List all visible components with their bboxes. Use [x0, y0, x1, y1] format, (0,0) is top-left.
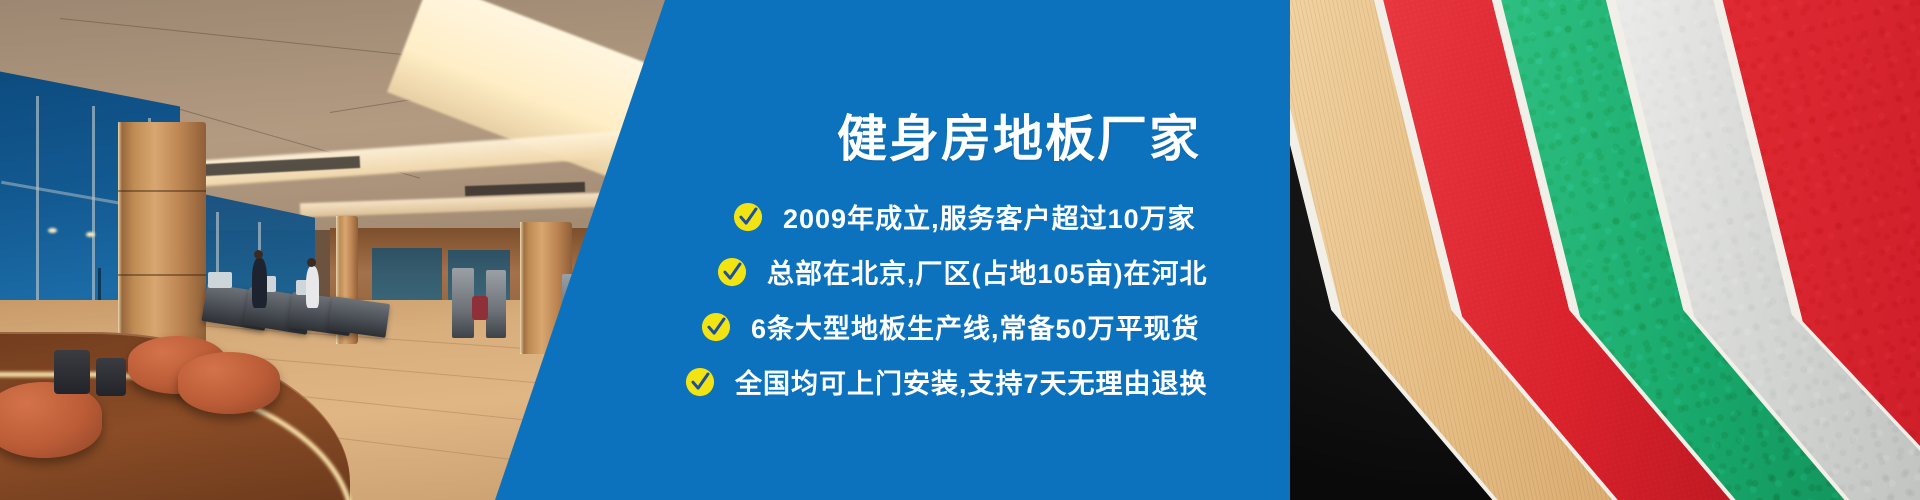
list-item: 全国均可上门安装,支持7天无理由退换 — [685, 362, 1385, 401]
list-item-label: 总部在北京,厂区(占地105亩)在河北 — [767, 252, 1208, 291]
side-stool — [96, 358, 126, 396]
exterior-light — [86, 232, 95, 237]
list-item: 6条大型地板生产线,常备50万平现货 — [701, 307, 1385, 346]
strength-machine — [486, 270, 506, 338]
column-seam — [118, 190, 206, 192]
page-title: 健身房地板厂家 — [675, 99, 1385, 171]
list-item: 2009年成立,服务客户超过10万家 — [733, 197, 1385, 236]
flooring-samples-photo — [1290, 0, 1920, 500]
list-item-label: 全国均可上门安装,支持7天无理由退换 — [735, 362, 1208, 401]
list-item-label: 2009年成立,服务客户超过10万家 — [783, 197, 1196, 236]
person-head — [307, 258, 316, 267]
banner-content: 健身房地板厂家 2009年成立,服务客户超过10万家 总部在北京,厂区(占地10… — [665, 0, 1385, 500]
check-circle-icon — [701, 312, 731, 342]
person-head — [254, 250, 263, 259]
person-exercising — [252, 258, 267, 308]
check-circle-icon — [733, 202, 763, 232]
column-light — [520, 222, 524, 354]
machine-seat — [472, 296, 488, 320]
check-circle-icon — [685, 367, 715, 397]
ottoman-seat — [178, 352, 280, 414]
exterior-light — [48, 228, 57, 233]
check-circle-icon — [717, 257, 747, 287]
promo-banner: 健身房地板厂家 2009年成立,服务客户超过10万家 总部在北京,厂区(占地10… — [0, 0, 1920, 500]
treadmill-console — [208, 272, 232, 288]
list-item-label: 6条大型地板生产线,常备50万平现货 — [751, 307, 1200, 346]
column-seam — [118, 274, 206, 276]
strength-machine — [452, 268, 474, 338]
person-exercising — [306, 266, 319, 308]
list-item: 总部在北京,厂区(占地105亩)在河北 — [717, 252, 1385, 291]
feature-list: 2009年成立,服务客户超过10万家 总部在北京,厂区(占地105亩)在河北 6… — [675, 197, 1385, 401]
side-stool — [54, 350, 90, 394]
